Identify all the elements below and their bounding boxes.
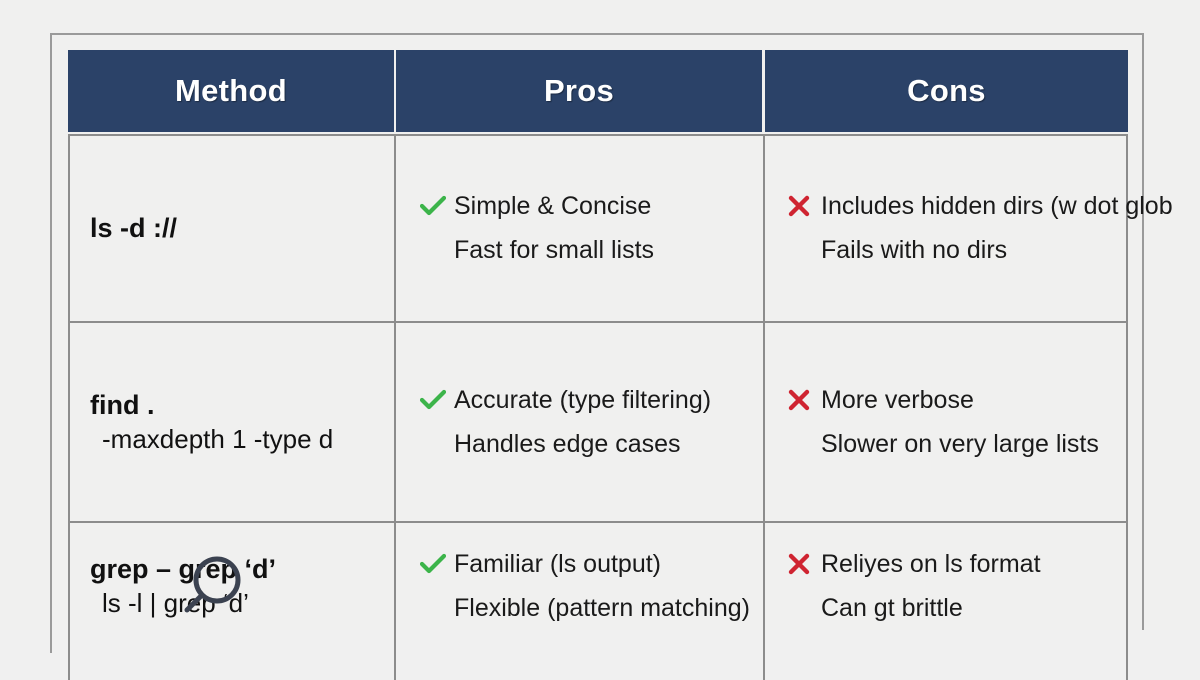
- cell-cons: Reliyes on ls format Can gt brittle: [765, 523, 1195, 650]
- table-row: ls -d :// Simple & Concise Fast for smal…: [68, 134, 1128, 321]
- pro-item-text: Handles edge cases: [454, 432, 681, 457]
- method-command: find .: [90, 388, 394, 423]
- check-icon: [420, 389, 454, 411]
- pro-item-text: Simple & Concise: [454, 194, 651, 219]
- pro-item: Familiar (ls output): [420, 552, 762, 577]
- pro-item-text: Accurate (type filtering): [454, 388, 711, 413]
- pro-item-text: Flexible (pattern matching): [454, 596, 750, 621]
- cell-method: ls -d ://: [68, 136, 394, 321]
- pro-item: Simple & Concise: [420, 194, 762, 219]
- pro-item: Handles edge cases: [420, 432, 762, 457]
- method-command-continuation: -maxdepth 1 -type d: [90, 423, 394, 457]
- con-item: Includes hidden dirs (w dot glob: [787, 194, 1195, 219]
- table-row: find . -maxdepth 1 -type d Accurate (typ…: [68, 321, 1128, 521]
- slide-canvas: Method Pros Cons ls -d ://: [0, 0, 1200, 630]
- con-item-text: More verbose: [821, 388, 974, 413]
- cell-method: grep – grep ‘d’ ls -l | grep ‘d’: [68, 523, 394, 650]
- method-command: ls -d ://: [90, 211, 394, 246]
- pro-item-text: Familiar (ls output): [454, 552, 661, 577]
- cross-icon: [787, 195, 821, 217]
- cross-icon: [787, 389, 821, 411]
- column-header-method: Method: [68, 50, 394, 132]
- cross-icon: [787, 553, 821, 575]
- cell-pros: Accurate (type filtering) Handles edge c…: [396, 323, 762, 521]
- method-command-continuation: ls -l | grep ‘d’: [90, 587, 394, 621]
- con-item-text: Includes hidden dirs (w dot glob: [821, 194, 1173, 219]
- con-item: More verbose: [787, 388, 1195, 413]
- comparison-table: Method Pros Cons ls -d ://: [68, 50, 1128, 650]
- con-item: Reliyes on ls format: [787, 552, 1195, 577]
- check-icon: [420, 553, 454, 575]
- cell-pros: Simple & Concise Fast for small lists: [396, 136, 762, 321]
- table-header-row: Method Pros Cons: [68, 50, 1128, 132]
- cell-cons: Includes hidden dirs (w dot glob Fails w…: [765, 136, 1195, 321]
- column-header-pros: Pros: [396, 50, 762, 132]
- cell-cons: More verbose Slower on very large lists: [765, 323, 1195, 521]
- check-icon: [420, 195, 454, 217]
- pro-item-text: Fast for small lists: [454, 238, 654, 263]
- column-header-cons: Cons: [765, 50, 1128, 132]
- con-item: Can gt brittle: [787, 596, 1195, 621]
- con-item-text: Slower on very large lists: [821, 432, 1099, 457]
- column-header-method-label: Method: [175, 73, 287, 109]
- method-command: grep – grep ‘d’: [90, 552, 394, 587]
- con-item-text: Reliyes on ls format: [821, 552, 1041, 577]
- con-item: Slower on very large lists: [787, 432, 1195, 457]
- cell-method: find . -maxdepth 1 -type d: [68, 323, 394, 521]
- column-header-cons-label: Cons: [907, 73, 986, 109]
- con-item: Fails with no dirs: [787, 238, 1195, 263]
- con-item-text: Can gt brittle: [821, 596, 963, 621]
- con-item-text: Fails with no dirs: [821, 238, 1007, 263]
- table-body: ls -d :// Simple & Concise Fast for smal…: [68, 134, 1128, 650]
- pro-item: Fast for small lists: [420, 238, 762, 263]
- table-row: grep – grep ‘d’ ls -l | grep ‘d’ Familia…: [68, 521, 1128, 650]
- cell-pros: Familiar (ls output) Flexible (pattern m…: [396, 523, 762, 650]
- pro-item: Accurate (type filtering): [420, 388, 762, 413]
- pro-item: Flexible (pattern matching): [420, 596, 762, 621]
- column-header-pros-label: Pros: [544, 73, 614, 109]
